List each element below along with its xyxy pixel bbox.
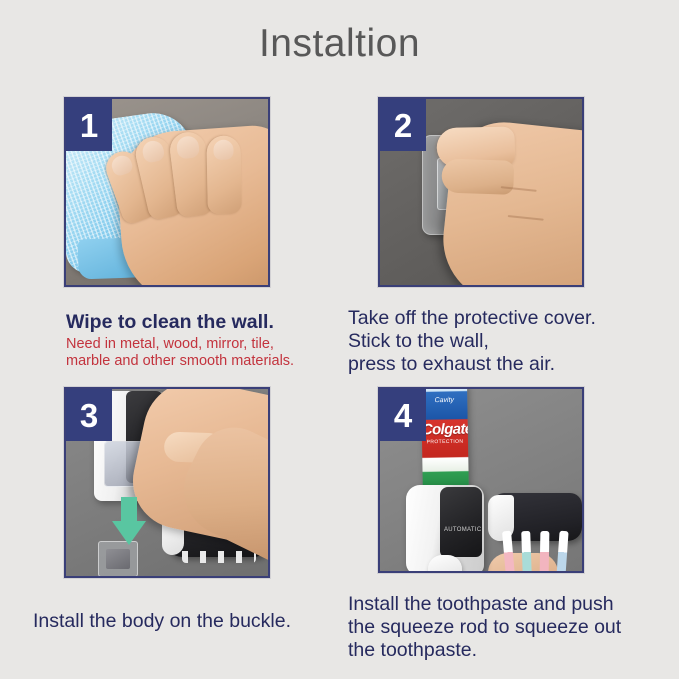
toothbrush	[502, 531, 515, 571]
step-number-badge-4: 4	[380, 389, 426, 441]
step-3-image-panel: 3	[64, 387, 270, 578]
dispenser-body: AUTOMATIC	[406, 485, 484, 571]
step-number-badge-3: 3	[66, 389, 112, 441]
fingernail	[140, 139, 165, 164]
installation-guide: Instaltion 1 Wipe to clean the wall. Nee…	[0, 0, 679, 679]
toothbrush	[521, 531, 532, 571]
step-2-caption-line-3: press to exhaust the air.	[348, 352, 648, 377]
step-4-caption-line-2: the squeeze rod to squeeze out	[348, 615, 658, 640]
step-2-caption-line-2: Stick to the wall,	[348, 329, 648, 354]
toothpaste-brand-label: Colgate	[422, 421, 468, 439]
page-title: Instaltion	[0, 22, 679, 66]
arrow-shaft	[121, 497, 137, 523]
toothbrush	[556, 531, 568, 571]
step-number-badge-1: 1	[66, 99, 112, 151]
step-number-badge-2: 2	[380, 99, 426, 151]
toothpaste-tube: Cavity Colgate PROTECTION	[421, 389, 469, 499]
wall-buckle	[98, 541, 138, 576]
toothpaste-top-label: Cavity	[421, 397, 467, 405]
step-1-note-line-1: Need in metal, wood, mirror, tile,	[66, 336, 326, 353]
step-4-image-panel: Cavity Colgate PROTECTION AUTOMATIC 4	[378, 387, 584, 573]
step-1-caption: Wipe to clean the wall.	[66, 310, 316, 335]
arrow-head	[112, 521, 146, 545]
fingernail	[176, 135, 200, 159]
step-4-caption-line-1: Install the toothpaste and push	[348, 592, 658, 617]
step-3-caption: Install the body on the buckle.	[33, 609, 343, 634]
knuckle-crease	[508, 215, 544, 221]
hand	[437, 117, 582, 285]
step-1-note-line-2: marble and other smooth materials.	[66, 353, 326, 370]
dispenser-logo-label: AUTOMATIC	[444, 527, 478, 533]
down-arrow-icon	[112, 497, 146, 545]
step-4-caption-line-3: the toothpaste.	[348, 638, 658, 663]
step-2-image-panel: 2	[378, 97, 584, 287]
toothpaste-variant-label: PROTECTION	[422, 439, 468, 446]
squeeze-nozzle	[428, 555, 462, 571]
toothbrush	[540, 531, 550, 571]
hand	[114, 123, 268, 285]
finger-icon	[206, 135, 241, 214]
step-1-image-panel: 1	[64, 97, 270, 287]
fingernail	[213, 140, 234, 161]
fingernail	[109, 153, 135, 178]
step-2-caption-line-1: Take off the protective cover.	[348, 306, 648, 331]
fingertip-icon	[441, 158, 514, 194]
toothbrush-group	[502, 531, 582, 571]
